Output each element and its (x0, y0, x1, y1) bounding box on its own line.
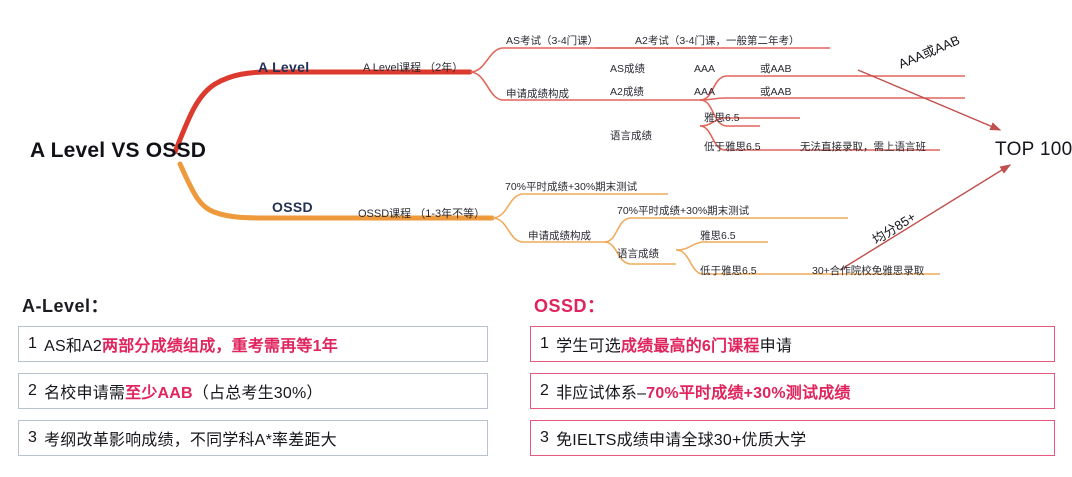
ossd-node-score-composition: 申请成绩构成 (528, 231, 591, 242)
ossd-node-language-score: 语言成绩 (617, 249, 659, 260)
alevel-node-score-composition: 申请成绩构成 (506, 89, 569, 100)
compare-row-text: 学生可选 (556, 332, 621, 356)
compare-row: 2非应试体系– 70%平时成绩+30%测试成绩 (530, 373, 1055, 409)
ossd-lang-split-up (676, 242, 768, 250)
compare-row: 3考纲改革影响成绩，不同学科A*率差距大 (18, 420, 488, 456)
page-title: A Level VS OSSD (30, 140, 206, 161)
destination-label: TOP 100 (995, 140, 1072, 159)
ossd-course-label: OSSD课程 （1-3年不等） (358, 209, 485, 220)
ossd-node-grade-mix: 70%平时成绩+30%期末测试 (617, 206, 749, 217)
alevel-node-as-score-aab: 或AAB (760, 64, 792, 75)
alevel-node-as-score: AS成绩 (610, 64, 645, 75)
compare-row-text: 免IELTS成绩申请全球30+优质大学 (556, 426, 806, 450)
alevel-main-branch (175, 72, 470, 152)
compare-row-number: 1 (28, 335, 37, 353)
ossd-node-below-ielts-65: 低于雅思6.5 (700, 266, 757, 277)
compare-row: 3免IELTS成绩申请全球30+优质大学 (530, 420, 1055, 456)
compare-row-highlight: 成绩最高的6门课程 (621, 332, 760, 356)
compare-row-number: 2 (28, 382, 37, 400)
compare-row-number: 1 (540, 335, 549, 353)
alevel-sub-as (700, 76, 965, 100)
compare-row: 2名校申请需至少AAB（占总考生30%） (18, 373, 488, 409)
alevel-node-below-ielts-65: 低于雅思6.5 (704, 142, 761, 153)
compare-column-alevel: A-Level： 1AS和A2两部分成绩组成，重考需再等1年2名校申请需至少AA… (18, 292, 488, 467)
alevel-node-a2-score: A2成绩 (610, 87, 644, 98)
arrow-alevel-to-top100 (858, 70, 1000, 130)
compare-row-text: 考纲改革影响成绩，不同学科A*率差距大 (44, 426, 337, 450)
alevel-node-language-score: 语言成绩 (610, 131, 652, 142)
compare-heading-alevel: A-Level： (22, 292, 488, 318)
ossd-node-below-ielts-consequence: 30+合作院校免雅思录取 (812, 266, 924, 277)
compare-row-highlight: 两部分成绩组成，重考需再等1年 (102, 332, 338, 356)
alevel-split-up (470, 48, 700, 72)
compare-rows-ossd: 1学生可选成绩最高的6门课程申请2非应试体系– 70%平时成绩+30%测试成绩3… (530, 326, 1055, 456)
compare-row-highlight: 70%平时成绩+30%测试成绩 (646, 379, 850, 403)
alevel-node-as-exam: AS考试（3-4门课） (506, 36, 598, 47)
ossd-node-grade-mix-top: 70%平时成绩+30%期末测试 (505, 182, 637, 193)
alevel-node-a2-exam: A2考试（3-4门课，一般第二年考） (635, 36, 800, 47)
compare-row-text: （占总考生30%） (193, 379, 323, 403)
compare-row-number: 2 (540, 382, 549, 400)
arrow-ossd-to-top100 (840, 165, 1010, 270)
compare-row-number: 3 (540, 429, 549, 447)
compare-heading-ossd: OSSD： (534, 292, 1055, 318)
ossd-node-ielts-65: 雅思6.5 (700, 231, 736, 242)
alevel-node-a2-score-aab: 或AAB (760, 87, 792, 98)
compare-row-text: 非应试体系– (556, 379, 646, 403)
alevel-split-down (470, 72, 700, 100)
compare-row-highlight: 至少AAB (125, 379, 193, 403)
alevel-node-as-score-aaa: AAA (694, 64, 715, 75)
compare-row-text: AS和A2 (44, 332, 102, 356)
compare-column-ossd: OSSD： 1学生可选成绩最高的6门课程申请2非应试体系– 70%平时成绩+30… (530, 292, 1055, 467)
branch-title-alevel: A Level (258, 60, 309, 74)
branch-title-ossd: OSSD (272, 200, 313, 214)
compare-rows-alevel: 1AS和A2两部分成绩组成，重考需再等1年2名校申请需至少AAB（占总考生30%… (18, 326, 488, 456)
compare-row: 1学生可选成绩最高的6门课程申请 (530, 326, 1055, 362)
alevel-node-below-ielts-consequence: 无法直接录取，需上语言班 (800, 142, 926, 153)
infographic-root: A Level VS OSSD A Level A Level课程 （2年） A… (0, 0, 1072, 477)
compare-row-text: 名校申请需 (44, 379, 125, 403)
alevel-node-a2-score-aaa: AAA (694, 87, 715, 98)
compare-row-number: 3 (28, 429, 37, 447)
alevel-course-label: A Level课程 （2年） (363, 63, 463, 74)
compare-row: 1AS和A2两部分成绩组成，重考需再等1年 (18, 326, 488, 362)
mindmap-region: A Level VS OSSD A Level A Level课程 （2年） A… (0, 0, 1072, 290)
compare-row-text: 申请 (760, 332, 792, 356)
alevel-node-ielts-65: 雅思6.5 (704, 113, 740, 124)
